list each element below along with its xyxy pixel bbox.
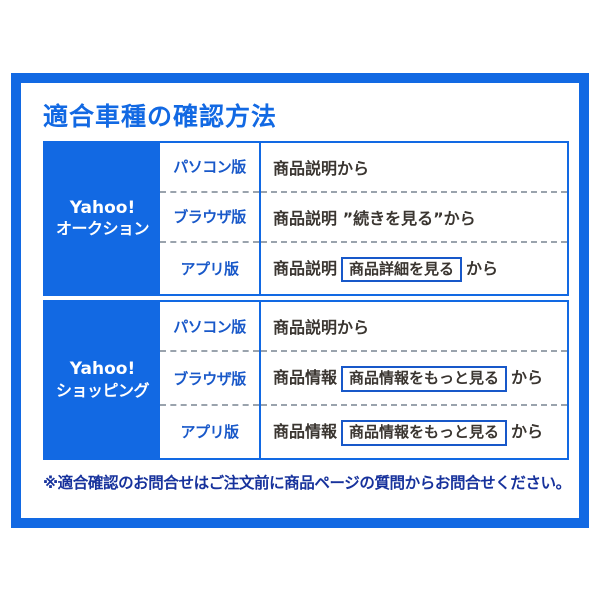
platform-label-pc: パソコン版 bbox=[160, 142, 260, 192]
ui-button-reference[interactable]: 商品情報をもっと見る bbox=[341, 420, 507, 446]
instruction-text-after: から bbox=[466, 259, 498, 278]
table-row: Yahoo! ショッピング パソコン版 商品説明から bbox=[44, 301, 568, 351]
instruction-text-after: から bbox=[511, 422, 543, 441]
instruction-text-before: 商品説明から bbox=[273, 159, 369, 178]
page-title: 適合車種の確認方法 bbox=[43, 103, 565, 131]
instruction-text-before: 商品説明 bbox=[273, 259, 337, 278]
platform-label-app: アプリ版 bbox=[160, 405, 260, 459]
platform-label-browser: ブラウザ版 bbox=[160, 351, 260, 405]
blue-frame: 適合車種の確認方法 Yahoo! オークション パソコン版 商品説明から ブラウ… bbox=[11, 73, 589, 528]
table-yahoo-shopping: Yahoo! ショッピング パソコン版 商品説明から ブラウザ版 商品情報商品情… bbox=[43, 300, 569, 460]
ui-button-reference[interactable]: 商品情報をもっと見る bbox=[341, 366, 507, 392]
ui-button-reference[interactable]: 商品詳細を見る bbox=[341, 257, 462, 283]
platform-label-browser: ブラウザ版 bbox=[160, 192, 260, 242]
brand-cell-shopping: Yahoo! ショッピング bbox=[44, 301, 160, 459]
instruction-cell: 商品説明商品詳細を見るから bbox=[260, 242, 568, 296]
brand-line2: ショッピング bbox=[47, 381, 158, 401]
instruction-text-after: から bbox=[511, 368, 543, 387]
instruction-text-before: 商品説明 ”続きを見る”から bbox=[273, 209, 476, 228]
instruction-cell: 商品情報商品情報をもっと見るから bbox=[260, 351, 568, 405]
instruction-cell: 商品情報商品情報をもっと見るから bbox=[260, 405, 568, 459]
table-row: Yahoo! オークション パソコン版 商品説明から bbox=[44, 142, 568, 192]
table-yahoo-auction: Yahoo! オークション パソコン版 商品説明から ブラウザ版 商品説明 ”続… bbox=[43, 141, 569, 297]
brand-line1: Yahoo! bbox=[47, 359, 158, 380]
instruction-cell: 商品説明から bbox=[260, 142, 568, 192]
footer-note: ※適合確認のお問合せはご注文前に商品ページの質問からお問合せください。 bbox=[43, 471, 565, 493]
platform-label-pc: パソコン版 bbox=[160, 301, 260, 351]
brand-cell-auction: Yahoo! オークション bbox=[44, 142, 160, 296]
instruction-cell: 商品説明から bbox=[260, 301, 568, 351]
instruction-text-before: 商品情報 bbox=[273, 422, 337, 441]
screenshot-root: 適合車種の確認方法 Yahoo! オークション パソコン版 商品説明から ブラウ… bbox=[0, 0, 600, 600]
instruction-text-before: 商品情報 bbox=[273, 368, 337, 387]
frame-inner-panel: 適合車種の確認方法 Yahoo! オークション パソコン版 商品説明から ブラウ… bbox=[21, 83, 579, 518]
brand-line1: Yahoo! bbox=[47, 198, 158, 219]
brand-line2: オークション bbox=[47, 219, 158, 239]
instruction-cell: 商品説明 ”続きを見る”から bbox=[260, 192, 568, 242]
platform-label-app: アプリ版 bbox=[160, 242, 260, 296]
instruction-text-before: 商品説明から bbox=[273, 318, 369, 337]
